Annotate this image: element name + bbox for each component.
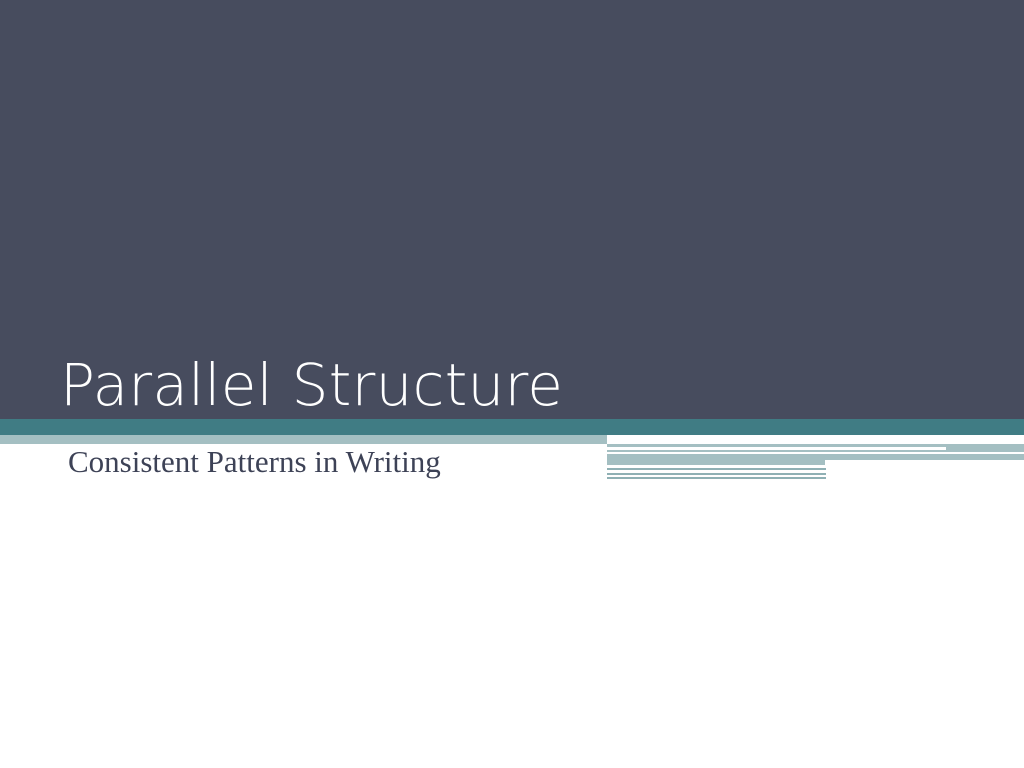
slide-body-area <box>0 481 1024 768</box>
slide-subtitle: Consistent Patterns in Writing <box>68 441 968 483</box>
slide-title: Parallel Structure <box>60 352 960 418</box>
presentation-slide: Parallel Structure Consistent Patterns i… <box>0 0 1024 768</box>
teal-accent-bar <box>0 419 1024 435</box>
